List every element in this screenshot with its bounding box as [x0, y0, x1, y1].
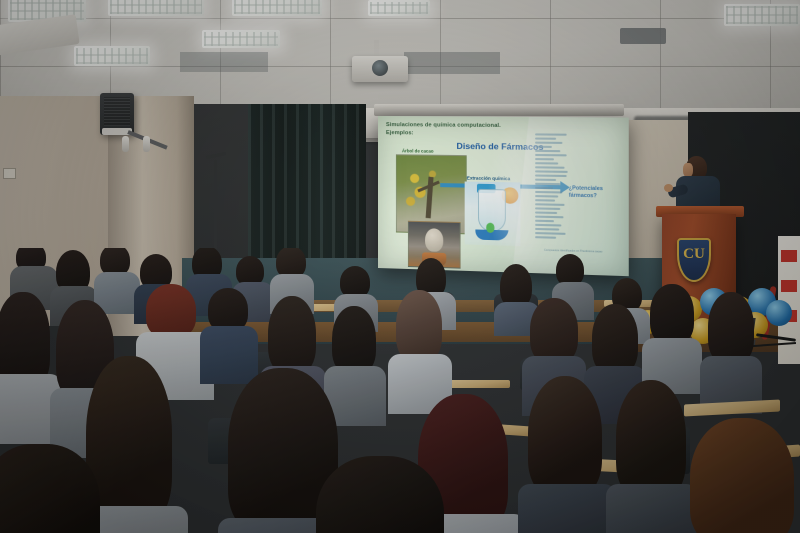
track-light	[143, 136, 150, 152]
projector-lens	[372, 60, 388, 76]
presenter-hand	[664, 184, 673, 192]
slide-title-line2: Ejemplos:	[386, 130, 414, 136]
compound-name-list	[535, 131, 569, 262]
track-light	[122, 136, 129, 152]
projection-screen-frame	[374, 104, 624, 116]
ceiling-vent	[620, 28, 666, 44]
desk	[684, 399, 780, 416]
ceiling-light-panel	[368, 0, 430, 16]
slide-photo-caption: Árbol de cacao	[402, 148, 434, 153]
auditorium-photo: Simulaciones de química computacional. E…	[0, 0, 800, 533]
ceiling-tile-dark	[404, 52, 500, 74]
ceiling-light-panel	[202, 30, 280, 48]
slide-title-line1: Simulaciones de química computacional.	[386, 122, 501, 129]
slide-right-label: ¿Potenciales fármacos?	[569, 185, 625, 201]
presenter-face	[683, 163, 693, 177]
ceiling-light-panel	[74, 46, 150, 66]
audience	[0, 248, 800, 533]
ceiling-light-panel	[724, 4, 800, 26]
ceiling-light-panel	[232, 0, 322, 16]
wall-outlet	[3, 168, 16, 179]
speaker-grille	[104, 97, 130, 126]
ceiling-light-panel	[108, 0, 204, 16]
ceiling-tile-dark	[180, 52, 268, 72]
projector	[352, 56, 408, 82]
wall-speaker	[100, 93, 134, 135]
